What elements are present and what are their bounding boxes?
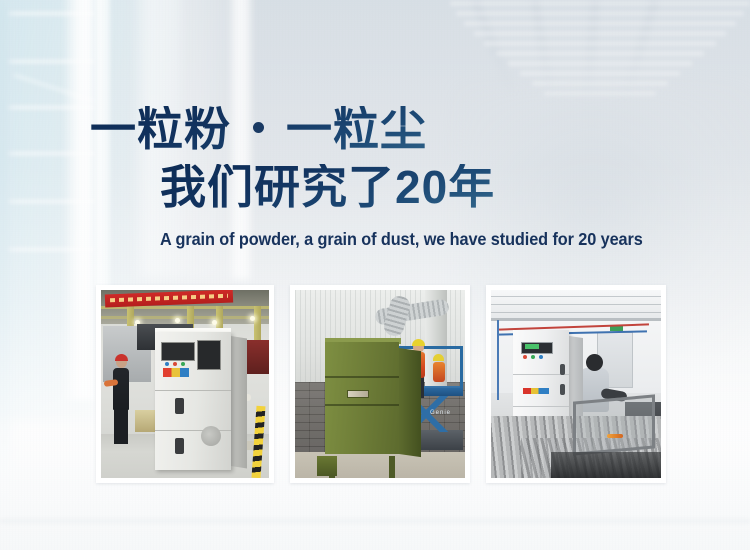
photo-green-dust-collector-install: Genie <box>295 290 465 478</box>
photo-gallery: Genie <box>96 285 666 483</box>
headline-subtitle: A grain of powder, a grain of dust, we h… <box>160 229 643 250</box>
headline-line-1: 一粒粉一粒尘 <box>90 106 750 152</box>
photo-white-collector-workshop <box>491 290 661 478</box>
photo-frame-2[interactable]: Genie <box>290 285 470 483</box>
photo-white-dust-collector-factory <box>101 290 269 478</box>
headline-line-1-part-2: 一粒尘 <box>286 103 427 155</box>
photo-frame-1[interactable] <box>96 285 274 483</box>
headline-line-2: 我们研究了20年 <box>160 164 750 210</box>
headline-block: 一粒粉一粒尘 我们研究了20年 <box>0 106 750 210</box>
dot-separator-icon <box>253 122 264 133</box>
promo-banner: 一粒粉一粒尘 我们研究了20年 A grain of powder, a gra… <box>0 0 750 550</box>
photo-frame-3[interactable] <box>486 285 666 483</box>
headline-line-1-part-1: 一粒粉 <box>90 103 231 155</box>
